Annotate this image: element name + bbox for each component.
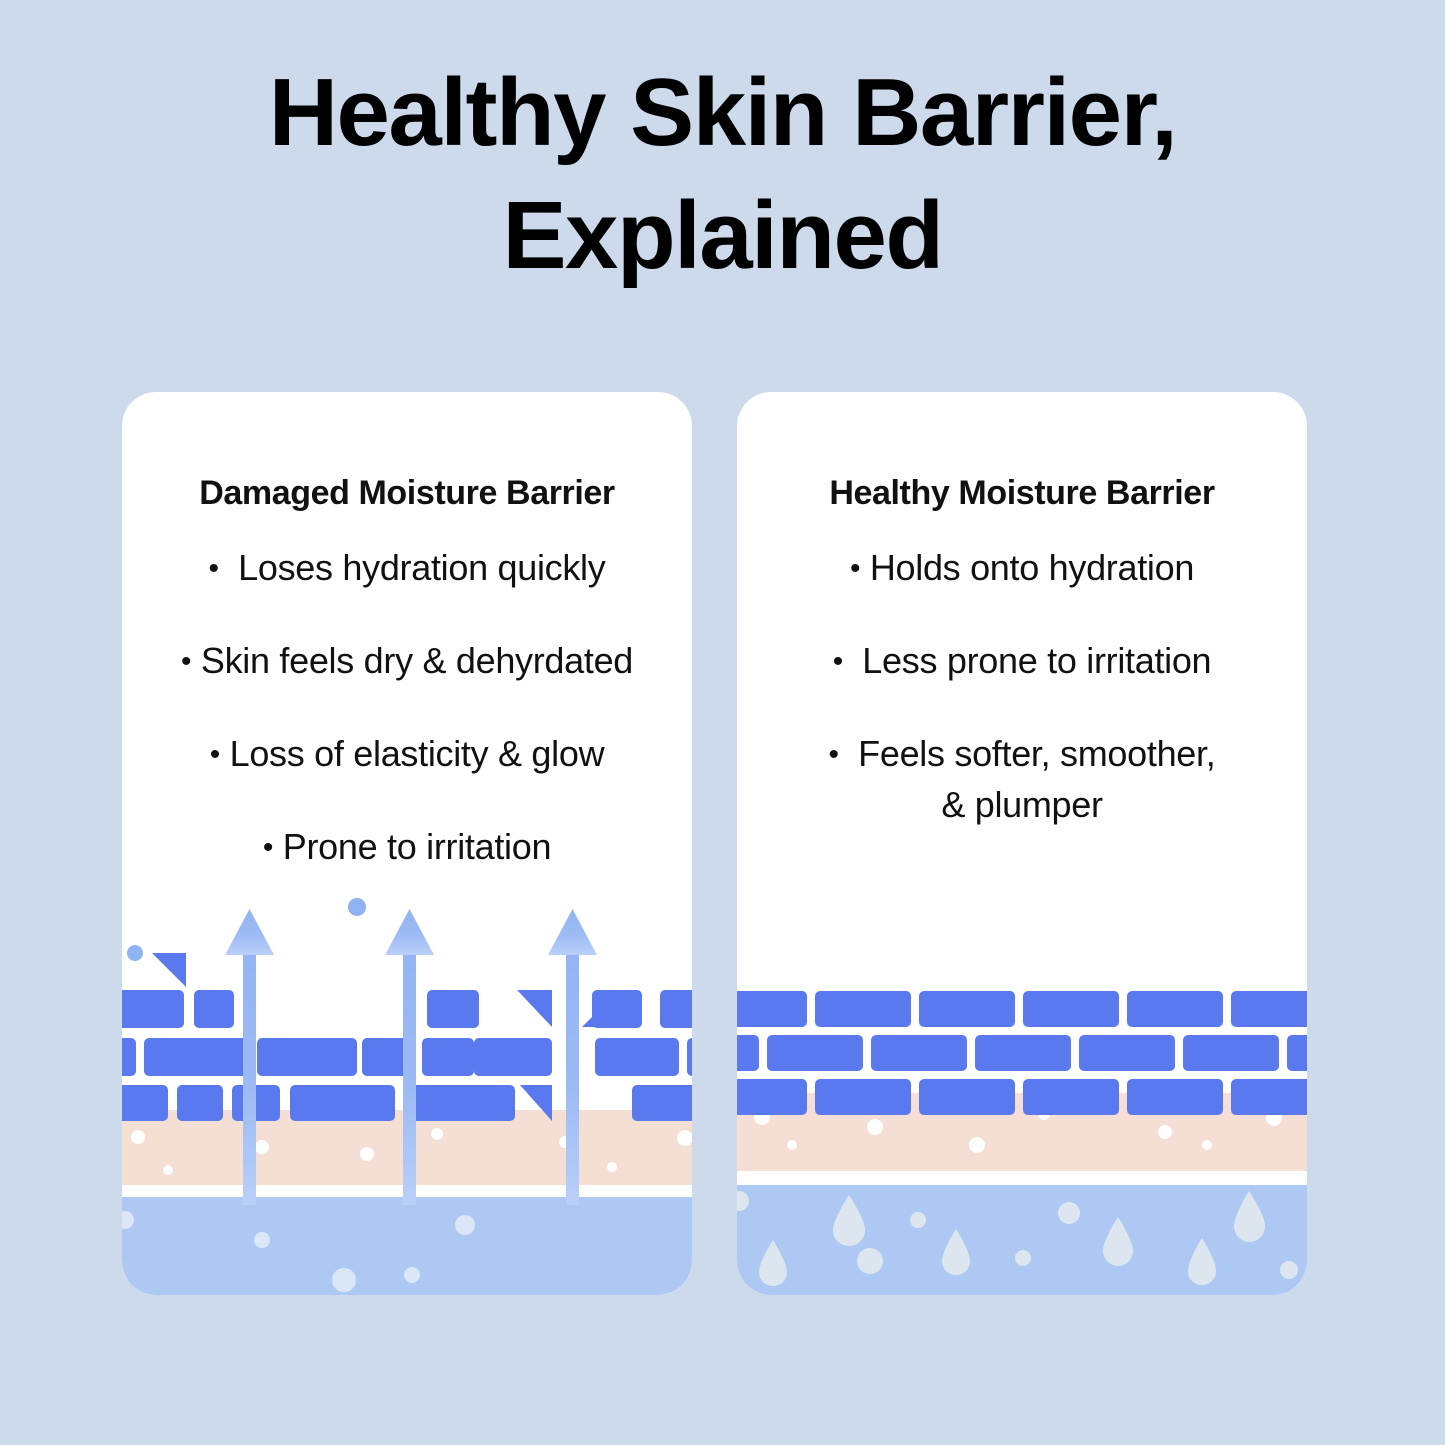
bullet-marker-icon: •: [850, 552, 860, 585]
bullet-marker-icon: •: [263, 831, 273, 864]
card-healthy-barrier: Healthy Moisture Barrier • Holds onto hy…: [737, 392, 1307, 1295]
bullet-marker-icon: •: [833, 645, 843, 678]
water-layer: [737, 1185, 1307, 1295]
list-item-label: Holds onto hydration: [870, 547, 1194, 588]
list-item: • Feels softer, smoother, & plumper: [751, 728, 1293, 830]
card-damaged-barrier: Damaged Moisture Barrier • Loses hydrati…: [122, 392, 692, 1295]
card-damaged-bullet-list: • Loses hydration quickly • Skin feels d…: [136, 542, 678, 914]
card-healthy-heading: Healthy Moisture Barrier: [737, 474, 1307, 513]
list-item-label: Loses hydration quickly: [238, 547, 605, 588]
list-item: • Holds onto hydration: [751, 542, 1293, 593]
broken-brick-chip: [152, 953, 186, 987]
page-title: Healthy Skin Barrier, Explained: [0, 52, 1445, 298]
list-item: • Loss of elasticity & glow: [136, 728, 678, 779]
card-healthy-bullet-list: • Holds onto hydration • Less prone to i…: [751, 542, 1293, 872]
list-item: • Skin feels dry & dehyrdated: [136, 635, 678, 686]
bullet-marker-icon: •: [181, 645, 191, 678]
list-item-label: Less prone to irritation: [862, 640, 1211, 681]
page-title-line-1: Healthy Skin Barrier,: [0, 52, 1445, 175]
list-item: • Loses hydration quickly: [136, 542, 678, 593]
list-item-label: Feels softer, smoother, & plumper: [858, 733, 1215, 825]
card-damaged-heading: Damaged Moisture Barrier: [122, 474, 692, 513]
damaged-barrier-illustration: [122, 895, 692, 1295]
comparison-cards: Damaged Moisture Barrier • Loses hydrati…: [122, 392, 1307, 1295]
list-item-label: Loss of elasticity & glow: [230, 733, 605, 774]
broken-brick-chip: [517, 990, 552, 1027]
bullet-marker-icon: •: [829, 738, 839, 771]
list-item-label: Skin feels dry & dehyrdated: [201, 640, 633, 681]
page-title-line-2: Explained: [0, 175, 1445, 298]
bullet-marker-icon: •: [209, 552, 219, 585]
list-item: • Prone to irritation: [136, 821, 678, 872]
healthy-barrier-illustration: [737, 895, 1307, 1295]
list-item-label: Prone to irritation: [283, 826, 551, 867]
list-item: • Less prone to irritation: [751, 635, 1293, 686]
bullet-marker-icon: •: [210, 738, 220, 771]
